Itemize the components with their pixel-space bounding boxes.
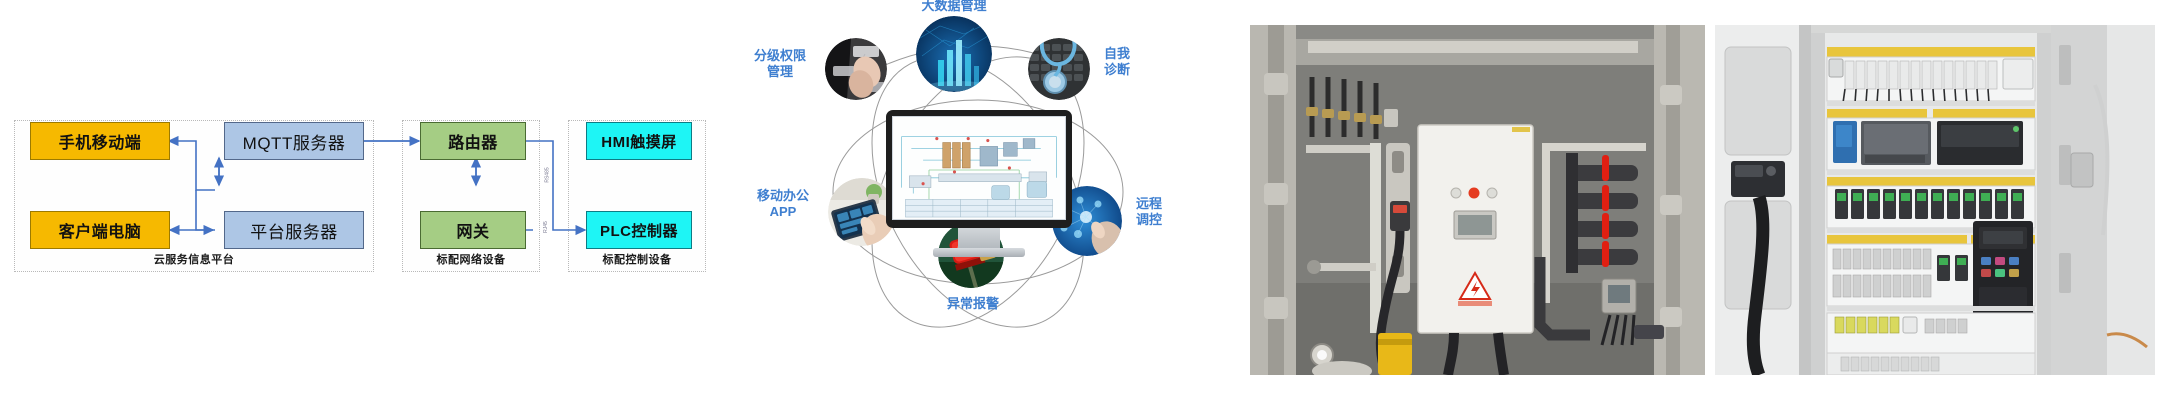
photo-plc-control-cabinet: [1715, 25, 2155, 375]
node-platform-server[interactable]: 平台服务器: [224, 211, 364, 249]
label-remote-control: 远程 调控: [1124, 196, 1174, 229]
label-big-data: 大数据管理: [898, 0, 1010, 14]
node-mqtt-server[interactable]: MQTT服务器: [224, 122, 364, 160]
screenshot-root: 云服务信息平台 标配网络设备 标配控制设备: [0, 0, 2160, 400]
node-mobile-terminal[interactable]: 手机移动端: [30, 122, 170, 160]
group-cloud-platform-label: 云服务信息平台: [15, 251, 373, 267]
node-gateway-label: 网关: [456, 218, 489, 242]
bar-chart-network-icon: [916, 16, 992, 92]
node-router[interactable]: 路由器: [420, 122, 526, 160]
node-hmi-touch-screen[interactable]: HMI触摸屏: [586, 122, 692, 160]
node-hmi-touch-screen-label: HMI触摸屏: [601, 131, 677, 152]
iot-architecture-diagram: 云服务信息平台 标配网络设备 标配控制设备: [0, 0, 720, 400]
label-mobile-office: 移动办公 APP: [742, 188, 824, 221]
node-plc-controller-label: PLC控制器: [600, 220, 678, 241]
bubble-self-diagnosis[interactable]: [1028, 38, 1090, 100]
monitor-screen: [892, 116, 1066, 220]
label-self-diagnosis: 自我 诊断: [1092, 46, 1142, 79]
node-mobile-terminal-label: 手机移动端: [59, 129, 142, 153]
scada-process-schematic: [893, 117, 1065, 219]
wire-tag-rs485: RS485: [545, 167, 551, 182]
label-alarm: 异常报警: [918, 296, 1028, 312]
bubble-big-data[interactable]: [916, 16, 992, 92]
node-gateway[interactable]: 网关: [420, 211, 526, 249]
node-router-label: 路由器: [448, 129, 498, 153]
node-mqtt-server-label: MQTT服务器: [243, 129, 346, 154]
plc-cabinet-illustration: [1715, 25, 2155, 375]
node-plc-controller[interactable]: PLC控制器: [586, 211, 692, 249]
node-platform-server-label: 平台服务器: [250, 218, 338, 243]
group-network-devices-label: 标配网络设备: [403, 251, 539, 267]
monitor-stand-base: [933, 248, 1025, 257]
node-client-computer[interactable]: 客户端电脑: [30, 211, 170, 249]
scada-monitor[interactable]: [886, 110, 1072, 257]
node-client-computer-label: 客户端电脑: [59, 218, 142, 242]
monitor-stand-neck: [958, 228, 1000, 248]
bubble-access-control[interactable]: [825, 38, 887, 100]
level-hierarchy-icon: [825, 38, 887, 100]
outdoor-cabinet-illustration: [1250, 25, 1705, 375]
stethoscope-keyboard-icon: [1028, 38, 1090, 100]
photo-outdoor-dosing-cabinet: [1250, 25, 1705, 375]
label-access-control: 分级权限 管理: [738, 48, 822, 81]
monitor-bezel: [886, 110, 1072, 228]
group-control-devices-label: 标配控制设备: [569, 251, 705, 267]
wire-tag-rj45: RJ45: [543, 221, 549, 233]
capability-wheel-infographic: 分级权限 管理 大数据管理 自我 诊断 远程 调控 异常报警 移动办公 APP: [720, 0, 1240, 400]
